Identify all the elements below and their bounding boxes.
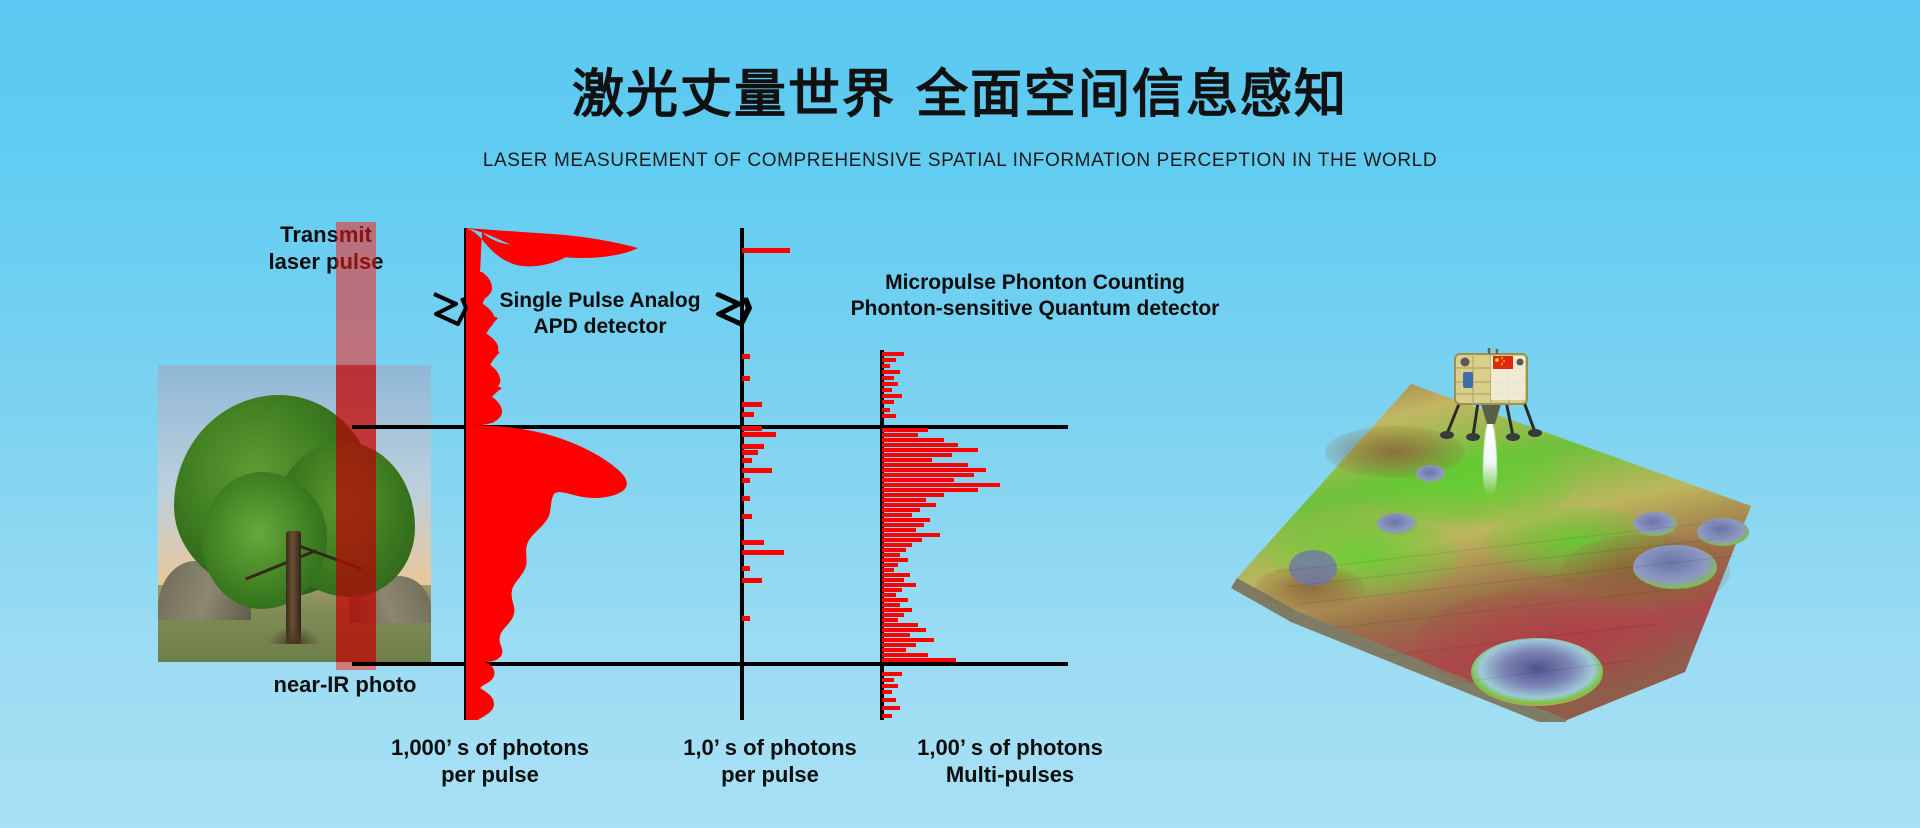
detector-left-label-line1: Single Pulse Analog — [470, 288, 730, 314]
near-ir-photo-image — [158, 365, 431, 662]
lunar-lander-icon — [1437, 348, 1545, 444]
waveform-1-ground-return — [466, 425, 627, 662]
detector-right-label-line1: Micropulse Phonton Counting — [800, 270, 1270, 296]
lander-sensor — [1517, 359, 1524, 366]
caption-3-line2: Multi-pulses — [855, 762, 1165, 789]
page-subtitle: LASER MEASUREMENT OF COMPREHENSIVE SPATI… — [0, 150, 1920, 172]
china-flag-icon — [1493, 356, 1513, 369]
lander-engine-nozzle — [1481, 404, 1501, 424]
terrain-crater-small-left — [1377, 513, 1417, 535]
terrain-crater-tiny-left — [1416, 465, 1446, 483]
waveform-3-dense-photon-counting — [882, 350, 1082, 720]
photo-tree-trunk — [286, 531, 301, 644]
transmit-label-line2: laser pulse — [236, 249, 416, 276]
terrain-crater-mid-right — [1633, 545, 1717, 589]
caption-3-line1: 1,00’ s of photons — [855, 735, 1165, 762]
page-title: 激光丈量世界 全面空间信息感知 — [0, 52, 1920, 127]
terrain-crater-small-mid — [1633, 512, 1677, 536]
detector-left-label-line2: APD detector — [470, 314, 730, 340]
lander-instrument-box — [1463, 372, 1473, 388]
detector-right-label: Micropulse Phonton Counting Phonton-sens… — [800, 270, 1270, 321]
detector-left-label: Single Pulse Analog APD detector — [470, 288, 730, 339]
caption-1-line1: 1,000’ s of photons — [340, 735, 640, 762]
caption-1-line2: per pulse — [340, 762, 640, 789]
terrain-crater-small-right — [1697, 518, 1749, 546]
poster-canvas: 激光丈量世界 全面空间信息感知 LASER MEASUREMENT OF COM… — [0, 0, 1920, 828]
detector-right-label-line2: Phonton-sensitive Quantum detector — [800, 296, 1270, 322]
laser-beam-overlap-icon — [336, 365, 376, 662]
near-ir-photo-label: near-IR photo — [200, 672, 490, 699]
transmit-label-line1: Transmit — [236, 222, 416, 249]
waveform-2-axis-break-icon — [716, 288, 788, 332]
lander-antenna-dish — [1461, 358, 1470, 367]
lander-foot-pads — [1440, 429, 1542, 441]
caption-photons-per-pulse-1: 1,000’ s of photons per pulse — [340, 735, 640, 789]
waveform-1-subsurface-tail — [466, 662, 495, 720]
transmit-label: Transmit laser pulse — [236, 222, 416, 276]
caption-photons-multi-pulses: 1,00’ s of photons Multi-pulses — [855, 735, 1165, 789]
waveform-3-bars — [882, 352, 1000, 718]
